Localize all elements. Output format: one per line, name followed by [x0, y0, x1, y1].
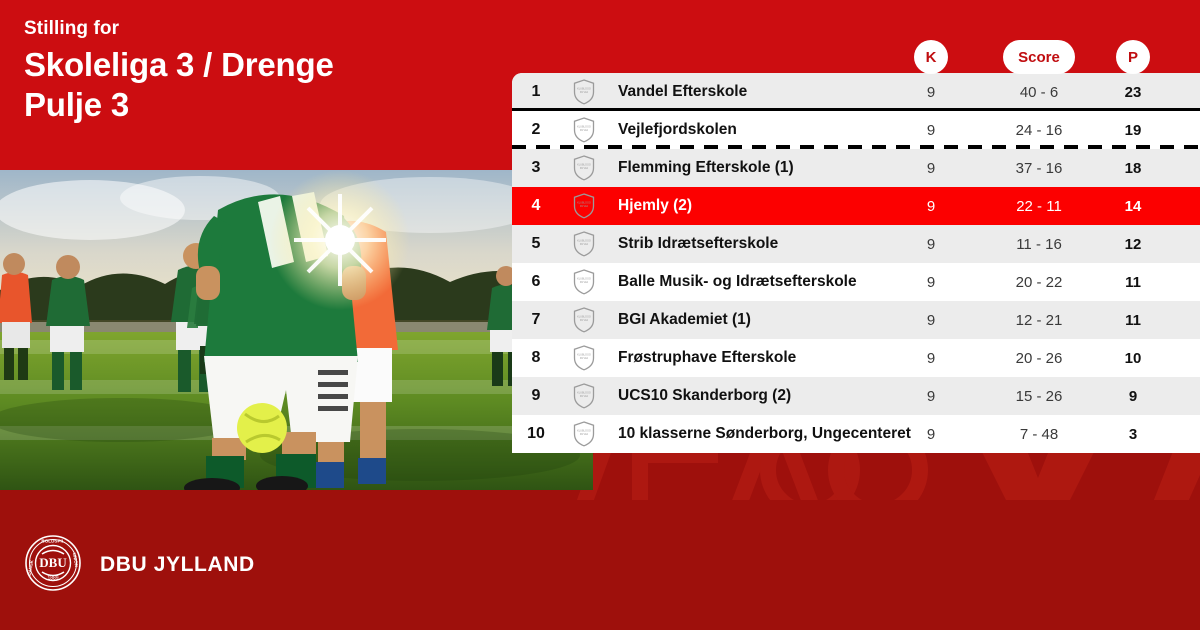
svg-text:PA VEJ: PA VEJ [580, 433, 589, 436]
team-logo-shield-icon: KLUBLOGOPA VEJ [560, 307, 608, 333]
page-kicker: Stilling for [24, 18, 494, 40]
matches-played: 9 [914, 388, 948, 405]
table-row[interactable]: 8KLUBLOGOPA VEJFrøstruphave Efterskole92… [512, 339, 1200, 377]
footer-org-name: DBU JYLLAND [100, 553, 255, 577]
team-name: Balle Musik- og Idrætsefterskole [608, 273, 1200, 291]
column-header-score: Score [1003, 40, 1075, 74]
table-row[interactable]: 4KLUBLOGOPA VEJHjemly (2)922 - 1114 [512, 187, 1200, 225]
page-title-line2: Pulje 3 [24, 85, 494, 125]
svg-text:1889: 1889 [47, 575, 58, 581]
svg-text:PA VEJ: PA VEJ [580, 281, 589, 284]
matches-played: 9 [914, 160, 948, 177]
svg-text:DBU: DBU [39, 555, 67, 570]
row-position: 10 [512, 425, 560, 443]
hero-photo [0, 170, 593, 490]
points: 14 [1116, 198, 1150, 215]
svg-text:UNION: UNION [72, 552, 79, 567]
points: 19 [1116, 122, 1150, 139]
row-position: 5 [512, 235, 560, 253]
table-row[interactable]: 2KLUBLOGOPA VEJVejlefjordskolen924 - 161… [512, 111, 1200, 149]
points: 10 [1116, 350, 1150, 367]
points: 18 [1116, 160, 1150, 177]
row-position: 1 [512, 83, 560, 101]
svg-text:PA VEJ: PA VEJ [580, 129, 589, 132]
svg-text:PA VEJ: PA VEJ [580, 243, 589, 246]
team-name: Strib Idrætsefterskole [608, 235, 1200, 253]
team-name: 10 klasserne Sønderborg, Ungecenteret [608, 425, 1200, 443]
goal-score: 12 - 21 [1003, 312, 1075, 329]
goal-score: 11 - 16 [1003, 236, 1075, 253]
matches-played: 9 [914, 84, 948, 101]
team-logo-shield-icon: KLUBLOGOPA VEJ [560, 155, 608, 181]
matches-played: 9 [914, 122, 948, 139]
table-row[interactable]: 5KLUBLOGOPA VEJStrib Idrætsefterskole911… [512, 225, 1200, 263]
matches-played: 9 [914, 312, 948, 329]
team-name: UCS10 Skanderborg (2) [608, 387, 1200, 405]
row-position: 8 [512, 349, 560, 367]
points: 3 [1116, 426, 1150, 443]
goal-score: 24 - 16 [1003, 122, 1075, 139]
team-logo-shield-icon: KLUBLOGOPA VEJ [560, 345, 608, 371]
svg-text:PA VEJ: PA VEJ [580, 395, 589, 398]
team-logo-shield-icon: KLUBLOGOPA VEJ [560, 193, 608, 219]
goal-score: 20 - 26 [1003, 350, 1075, 367]
matches-played: 9 [914, 426, 948, 443]
table-row[interactable]: 6KLUBLOGOPA VEJBalle Musik- og Idrætseft… [512, 263, 1200, 301]
matches-played: 9 [914, 236, 948, 253]
goal-score: 7 - 48 [1003, 426, 1075, 443]
column-header-matches: K [914, 40, 948, 74]
svg-text:PA VEJ: PA VEJ [580, 357, 589, 360]
table-row[interactable]: 3KLUBLOGOPA VEJFlemming Efterskole (1)93… [512, 149, 1200, 187]
row-position: 7 [512, 311, 560, 329]
team-name: Hjemly (2) [608, 197, 1200, 215]
team-logo-shield-icon: KLUBLOGOPA VEJ [560, 231, 608, 257]
goal-score: 15 - 26 [1003, 388, 1075, 405]
column-header-pills: K Score P [0, 40, 1200, 74]
team-name: Vejlefjordskolen [608, 121, 1200, 139]
svg-text:BOLDSPIL: BOLDSPIL [41, 538, 64, 543]
matches-played: 9 [914, 274, 948, 291]
team-logo-shield-icon: KLUBLOGOPA VEJ [560, 421, 608, 447]
points: 11 [1116, 312, 1150, 329]
points: 11 [1116, 274, 1150, 291]
team-logo-shield-icon: KLUBLOGOPA VEJ [560, 269, 608, 295]
table-row[interactable]: 9KLUBLOGOPA VEJUCS10 Skanderborg (2)915 … [512, 377, 1200, 415]
row-position: 9 [512, 387, 560, 405]
goal-score: 20 - 22 [1003, 274, 1075, 291]
row-position: 6 [512, 273, 560, 291]
row-position: 3 [512, 159, 560, 177]
points: 23 [1116, 84, 1150, 101]
svg-text:PA VEJ: PA VEJ [580, 167, 589, 170]
goal-score: 22 - 11 [1003, 198, 1075, 215]
points: 9 [1116, 388, 1150, 405]
dbu-logo-icon: DBU 1889 BOLDSPIL DANSK UNION [24, 534, 82, 597]
svg-text:PA VEJ: PA VEJ [580, 205, 589, 208]
team-logo-shield-icon: KLUBLOGOPA VEJ [560, 117, 608, 143]
goal-score: 40 - 6 [1003, 84, 1075, 101]
table-row[interactable]: 7KLUBLOGOPA VEJBGI Akademiet (1)912 - 21… [512, 301, 1200, 339]
svg-text:DANSK: DANSK [27, 558, 35, 575]
team-logo-shield-icon: KLUBLOGOPA VEJ [560, 79, 608, 105]
svg-text:PA VEJ: PA VEJ [580, 319, 589, 322]
table-row[interactable]: 10KLUBLOGOPA VEJ10 klasserne Sønderborg,… [512, 415, 1200, 453]
table-row[interactable]: 1KLUBLOGOPA VEJVandel Efterskole940 - 62… [512, 73, 1200, 111]
standings-table: 1KLUBLOGOPA VEJVandel Efterskole940 - 62… [512, 73, 1200, 453]
row-position: 2 [512, 121, 560, 139]
team-name: Flemming Efterskole (1) [608, 159, 1200, 177]
row-position: 4 [512, 197, 560, 215]
poster-canvas: Stilling for Skoleliga 3 / Drenge Pulje … [0, 0, 1200, 630]
team-logo-shield-icon: KLUBLOGOPA VEJ [560, 383, 608, 409]
team-name: Frøstruphave Efterskole [608, 349, 1200, 367]
footer: DBU 1889 BOLDSPIL DANSK UNION DBU JYLLAN… [0, 500, 1200, 630]
team-name: Vandel Efterskole [608, 83, 1200, 101]
matches-played: 9 [914, 198, 948, 215]
svg-text:PA VEJ: PA VEJ [580, 91, 589, 94]
team-name: BGI Akademiet (1) [608, 311, 1200, 329]
column-header-points: P [1116, 40, 1150, 74]
points: 12 [1116, 236, 1150, 253]
goal-score: 37 - 16 [1003, 160, 1075, 177]
matches-played: 9 [914, 350, 948, 367]
